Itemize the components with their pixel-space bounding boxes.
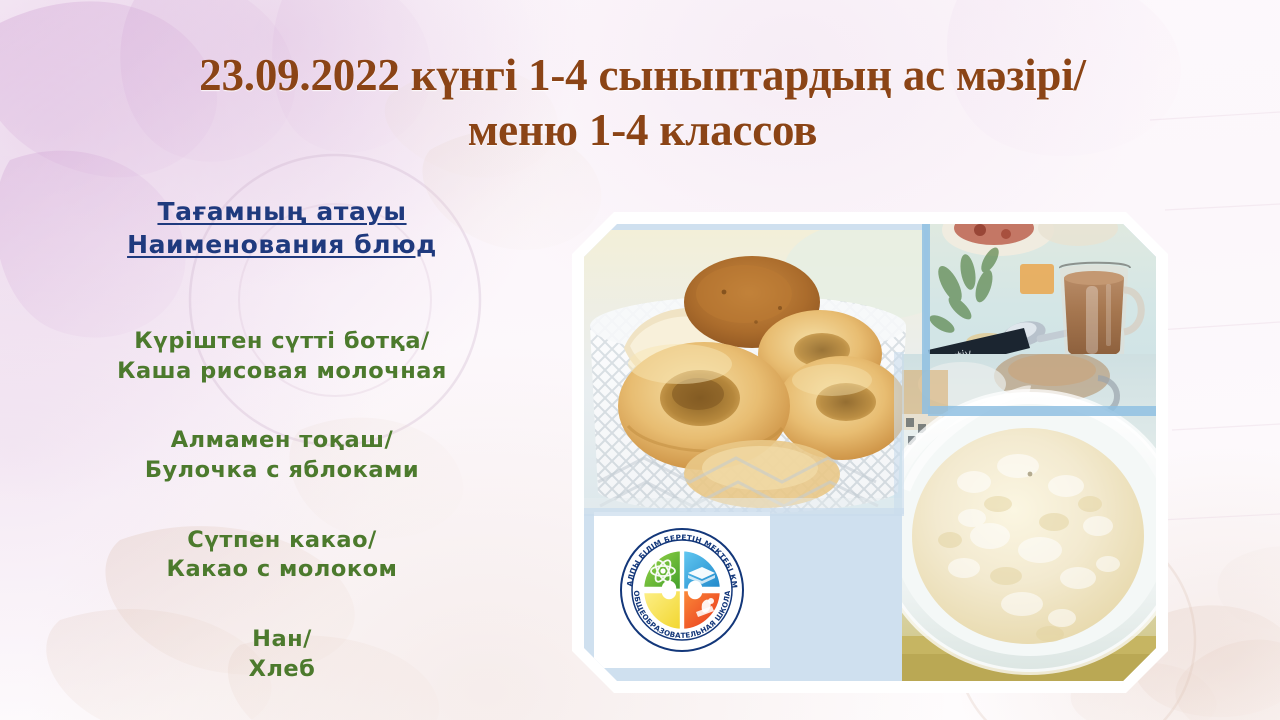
menu-items-list: Күріштен сүтті ботқа/ Каша рисовая молоч…	[52, 327, 512, 685]
school-emblem-graphic: ЖАЛПЫ БІЛІМ БЕРЕТІН МЕКТЕБІ КММ ОБЩЕОБРА…	[618, 526, 746, 654]
photo-collage-frame: activ	[572, 212, 1168, 693]
menu-item-bread: Нан/ Хлеб	[52, 625, 512, 684]
school-emblem-icon: ЖАЛПЫ БІЛІМ БЕРЕТІН МЕКТЕБІ КММ ОБЩЕОБРА…	[618, 526, 746, 654]
school-logo-card: ЖАЛПЫ БІЛІМ БЕРЕТІН МЕКТЕБІ КММ ОБЩЕОБРА…	[594, 512, 770, 668]
menu-column-heading: Тағамның атауы Наименования блюд	[52, 196, 512, 261]
page-title: 23.09.2022 күнгі 1-4 сыныптардың ас мәзі…	[120, 48, 1165, 158]
menu-item-porridge: Күріштен сүтті ботқа/ Каша рисовая молоч…	[52, 327, 512, 386]
buns-photo-graphic	[584, 230, 924, 514]
menu-column: Тағамның атауы Наименования блюд Күріште…	[52, 196, 512, 685]
menu-slide: 23.09.2022 күнгі 1-4 сыныптардың ас мәзі…	[0, 0, 1280, 720]
photo-porridge-bowl	[902, 354, 1156, 681]
menu-item-cocoa: Сүтпен какао/ Какао с молоком	[52, 526, 512, 585]
menu-item-apple-bun: Алмамен тоқаш/ Булочка с яблоками	[52, 426, 512, 485]
photo-buns-in-basket	[584, 230, 924, 514]
photo-collage: activ	[584, 224, 1156, 681]
porridge-photo-graphic	[902, 354, 1156, 681]
